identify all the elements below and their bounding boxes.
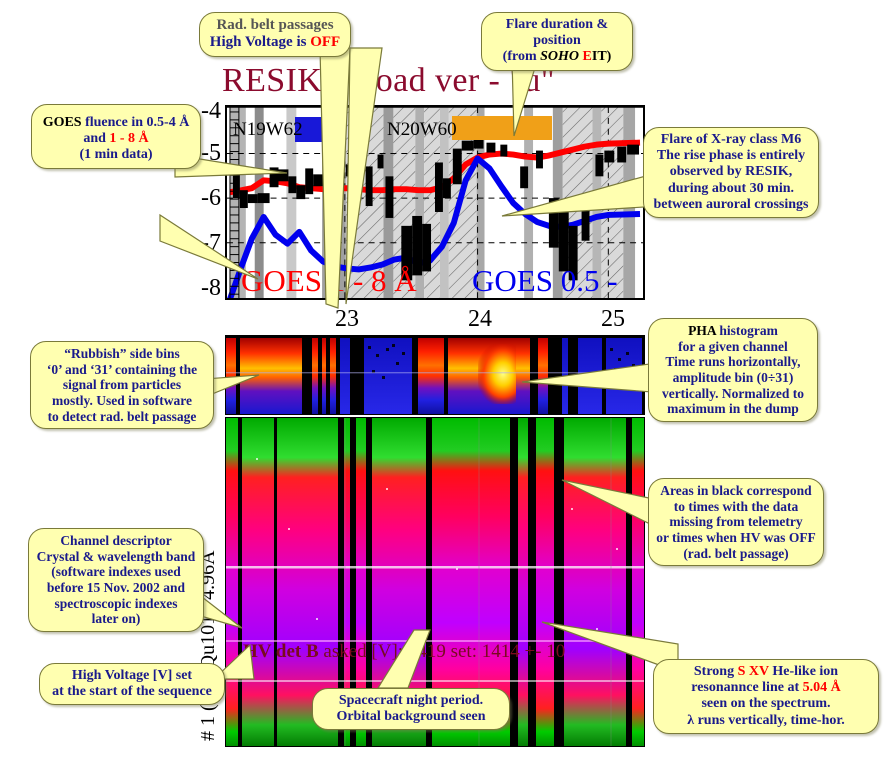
callout-high-voltage[interactable]: High Voltage [V] set at the start of the… <box>39 663 225 705</box>
y-tick-6: -6 <box>201 186 221 210</box>
fluence-label: fluence in 0.5-4 Å <box>82 115 190 130</box>
callout-flare-class-line3: observed by RESIK, <box>651 164 811 180</box>
callout-goes-fluence-line1: GOES fluence in 0.5-4 Å <box>39 115 193 131</box>
x-tick-23: 23 <box>335 307 359 331</box>
callout-pha-histogram-line2: for a given channel <box>656 339 810 355</box>
pointer-goes-fluence-2 <box>160 215 270 285</box>
strong-label: Strong <box>694 664 738 679</box>
callout-pha-histogram-line4: amplitude bin (0÷31) <box>656 370 810 386</box>
callout-rubbish-bins-line3: signal from particles <box>38 377 206 393</box>
callout-rubbish-bins[interactable]: “Rubbish” side bins ‘0’ and ‘31’ contain… <box>30 341 214 429</box>
flare-position-left-label: N19W62 <box>233 119 303 141</box>
helike-label: He-like ion <box>769 664 838 679</box>
callout-rad-belt[interactable]: Rad. belt passages High Voltage is OFF <box>199 12 351 57</box>
hv-is-label: High Voltage is <box>210 34 310 50</box>
callout-flare-position[interactable]: Flare duration & position (from SOHO EIT… <box>481 12 633 71</box>
soho-label: SOHO <box>540 49 579 64</box>
callout-night-period[interactable]: Spacecraft night period. Orbital backgro… <box>312 688 510 730</box>
from-label: (from <box>503 49 540 64</box>
callout-rubbish-bins-line5: to detect rad. belt passage <box>38 409 206 425</box>
pointer-flare-class <box>500 172 660 222</box>
callout-flare-class-line5: between auroral crossings <box>651 197 811 213</box>
eit-e-label: E <box>579 49 592 64</box>
callout-flare-class-line1: Flare of X-ray class M6 <box>651 132 811 148</box>
band-1-8-label: 1 - 8 Å <box>109 131 148 146</box>
goes-short-legend: GOES 0.5 - <box>472 263 618 299</box>
callout-black-areas-line1: Areas in black correspond <box>656 483 816 499</box>
callout-black-areas-line2: to times with the data <box>656 499 816 515</box>
callout-channel-descriptor-line1: Channel descriptor <box>36 533 196 549</box>
callout-channel-descriptor[interactable]: Channel descriptor Crystal & wavelength … <box>28 528 204 632</box>
callout-channel-descriptor-line5: spectroscopic indexes <box>36 596 196 612</box>
callout-night-period-line2: Orbital background seen <box>320 709 502 725</box>
callout-s-xv-line4: λ runs vertically, time-hor. <box>661 713 871 729</box>
callout-flare-class-line4: during about 30 min. <box>651 181 811 197</box>
callout-pha-histogram-line3: Time runs horizontally, <box>656 354 810 370</box>
resonance-label: resonannce line at <box>691 680 802 695</box>
callout-pha-histogram[interactable]: PHA histogram for a given channel Time r… <box>648 318 818 422</box>
callout-channel-descriptor-line6: later on) <box>36 611 196 627</box>
callout-rad-belt-line1: Rad. belt passages <box>207 17 343 34</box>
callout-s-xv-line[interactable]: Strong S XV He-like ion resonannce line … <box>653 659 879 734</box>
callout-goes-fluence-line2: and 1 - 8 Å <box>39 131 193 147</box>
and-label: and <box>83 131 109 146</box>
callout-high-voltage-line1: High Voltage [V] set <box>47 668 217 684</box>
callout-channel-descriptor-line3: (software indexes used <box>36 564 196 580</box>
y-tick-4: -4 <box>201 99 221 123</box>
hv-off-label: OFF <box>310 34 340 50</box>
callout-night-period-line1: Spacecraft night period. <box>320 693 502 709</box>
callout-channel-descriptor-line2: Crystal & wavelength band <box>36 549 196 565</box>
callout-pha-histogram-line6: maximum in the dump <box>656 401 810 417</box>
x-tick-24: 24 <box>468 307 492 331</box>
callout-flare-position-line1: Flare duration & position <box>489 17 625 49</box>
histogram-label: histogram <box>716 323 778 338</box>
callout-black-areas[interactable]: Areas in black correspond to times with … <box>648 478 824 566</box>
callout-flare-class-line2: The rise phase is entirely <box>651 148 811 164</box>
wavelength-label: 5.04 Å <box>803 680 841 695</box>
callout-channel-descriptor-line4: before 15 Nov. 2002 and <box>36 580 196 596</box>
callout-s-xv-line1: Strong S XV He-like ion <box>661 664 871 680</box>
hv-detector: B <box>306 641 319 662</box>
callout-goes-fluence[interactable]: GOES fluence in 0.5-4 Å and 1 - 8 Å (1 m… <box>31 104 201 169</box>
callout-s-xv-line3: seen on the spectrum. <box>661 696 871 712</box>
eit-it-label: IT) <box>592 49 611 64</box>
callout-rubbish-bins-line4: mostly. Used in software <box>38 393 206 409</box>
callout-rad-belt-line2: High Voltage is OFF <box>207 34 343 51</box>
callout-s-xv-line2: resonannce line at 5.04 Å <box>661 680 871 696</box>
callout-flare-position-line2: (from SOHO EIT) <box>489 49 625 65</box>
callout-pha-histogram-line1: PHA histogram <box>656 323 810 339</box>
x-tick-25: 25 <box>601 307 625 331</box>
callout-goes-fluence-line3: (1 min data) <box>39 147 193 163</box>
callout-flare-class[interactable]: Flare of X-ray class M6 The rise phase i… <box>643 127 819 218</box>
callout-rubbish-bins-line1: “Rubbish” side bins <box>38 346 206 362</box>
callout-high-voltage-line2: at the start of the sequence <box>47 684 217 700</box>
pha-label: PHA <box>688 323 716 338</box>
callout-black-areas-line3: missing from telemetry <box>656 514 816 530</box>
sxv-label: S XV <box>738 664 769 679</box>
callout-black-areas-line5: (rad. belt passage) <box>656 546 816 562</box>
pointer-rad-belt <box>320 48 440 308</box>
callout-rubbish-bins-line2: ‘0’ and ‘31’ containing the <box>38 362 206 378</box>
callout-black-areas-line4: or times when HV was OFF <box>656 530 816 546</box>
callout-pha-histogram-line5: vertically. Normalized to <box>656 386 810 402</box>
pointer-night-period <box>378 630 468 690</box>
goes-label: GOES <box>43 115 82 130</box>
